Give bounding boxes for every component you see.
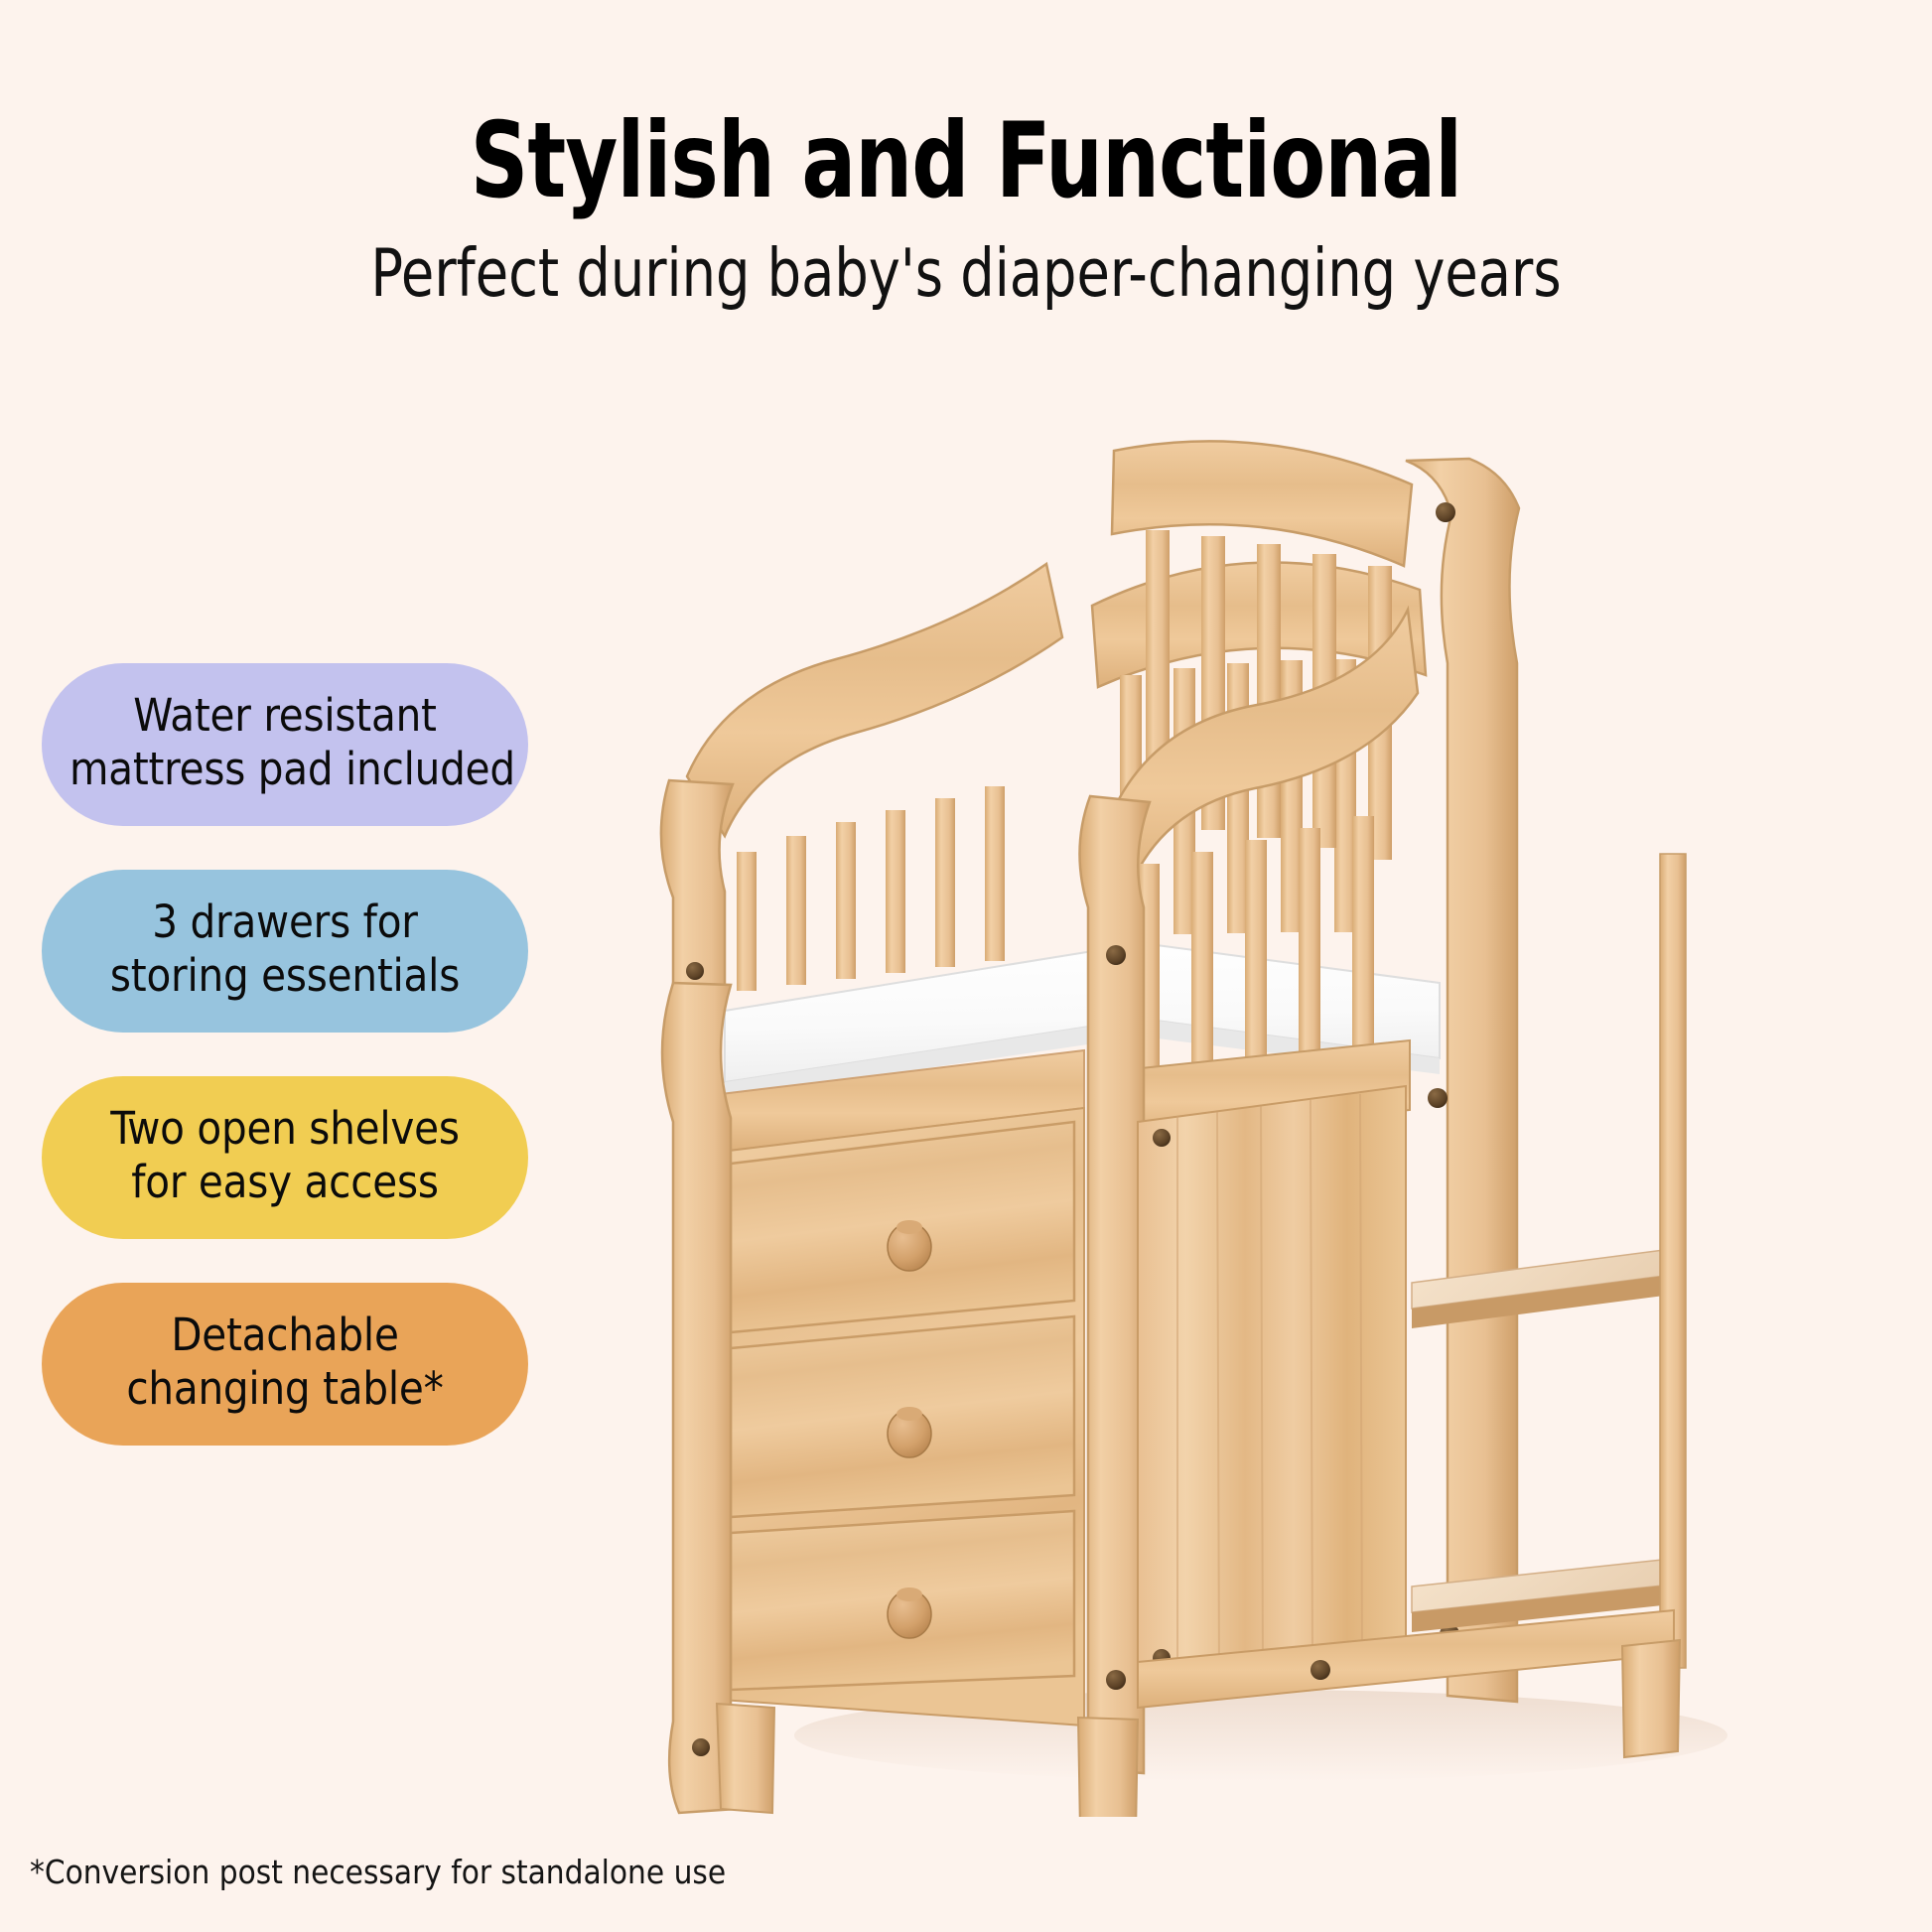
screw-cap-icon bbox=[692, 1738, 710, 1756]
drawer-3[interactable] bbox=[731, 1511, 1074, 1690]
drawer-knob-base bbox=[897, 1220, 922, 1234]
left-slat bbox=[886, 810, 905, 973]
feature-label-line1: 3 drawers for bbox=[69, 896, 500, 949]
header: Stylish and Functional Perfect during ba… bbox=[0, 107, 1932, 311]
leg-front-left bbox=[717, 1704, 774, 1813]
left-slat bbox=[836, 822, 856, 979]
page-title: Stylish and Functional bbox=[135, 107, 1797, 215]
left-end-panel bbox=[661, 564, 1062, 1017]
leg-front-center bbox=[1078, 1718, 1138, 1817]
left-slat bbox=[737, 852, 757, 991]
left-front-post-shape bbox=[662, 983, 737, 1813]
side-panel bbox=[1138, 1086, 1406, 1686]
feature-pill-water-resistant-pad: Water resistant mattress pad included bbox=[42, 663, 528, 826]
feature-label-line1: Two open shelves bbox=[69, 1102, 500, 1156]
feature-label-line2: changing table* bbox=[69, 1362, 500, 1416]
feature-label-line2: storing essentials bbox=[69, 949, 500, 1003]
right-lower-slat bbox=[1352, 816, 1374, 1082]
screw-cap-icon bbox=[1428, 1088, 1448, 1108]
feature-label-line1: Detachable bbox=[69, 1309, 500, 1362]
feature-label-line2: for easy access bbox=[69, 1156, 500, 1209]
footnote: *Conversion post necessary for standalon… bbox=[30, 1853, 726, 1891]
right-slat bbox=[1257, 544, 1281, 838]
screw-cap-icon bbox=[686, 962, 704, 980]
drawer-cabinet bbox=[721, 1050, 1084, 1725]
screw-cap-icon bbox=[1436, 502, 1455, 522]
screw-cap-icon bbox=[1311, 1660, 1330, 1680]
right-lower-slat bbox=[1299, 828, 1320, 1082]
left-slat bbox=[786, 836, 806, 985]
left-slat-group bbox=[737, 786, 1005, 991]
feature-list: Water resistant mattress pad included 3 … bbox=[42, 663, 548, 1489]
screw-cap-icon bbox=[1106, 945, 1126, 965]
shelf-support-post bbox=[1660, 854, 1686, 1668]
product-image-changing-table bbox=[625, 427, 1916, 1817]
drawer-2[interactable] bbox=[731, 1316, 1074, 1517]
feature-label-line2: mattress pad included bbox=[69, 743, 500, 796]
drawer-knob-base bbox=[897, 1407, 922, 1421]
screw-cap-icon bbox=[1106, 1670, 1126, 1690]
right-lower-slat bbox=[1191, 852, 1213, 1082]
infographic-canvas: Stylish and Functional Perfect during ba… bbox=[0, 0, 1932, 1932]
right-lower-slat bbox=[1245, 840, 1267, 1082]
left-top-rail bbox=[687, 564, 1062, 836]
screw-cap-icon bbox=[1153, 1129, 1171, 1147]
feature-pill-three-drawers: 3 drawers for storing essentials bbox=[42, 870, 528, 1033]
feature-pill-detachable-changing-table: Detachable changing table* bbox=[42, 1283, 528, 1446]
left-slat bbox=[935, 798, 955, 967]
left-corner-post bbox=[661, 780, 733, 1017]
drawer-knob-base bbox=[897, 1587, 922, 1601]
left-slat bbox=[985, 786, 1005, 961]
left-front-post bbox=[662, 983, 737, 1813]
changing-table-illustration bbox=[625, 427, 1916, 1817]
feature-pill-two-open-shelves: Two open shelves for easy access bbox=[42, 1076, 528, 1239]
page-subtitle: Perfect during baby's diaper-changing ye… bbox=[96, 237, 1835, 311]
feature-label-line1: Water resistant bbox=[69, 689, 500, 743]
leg-right-rear bbox=[1622, 1640, 1680, 1757]
